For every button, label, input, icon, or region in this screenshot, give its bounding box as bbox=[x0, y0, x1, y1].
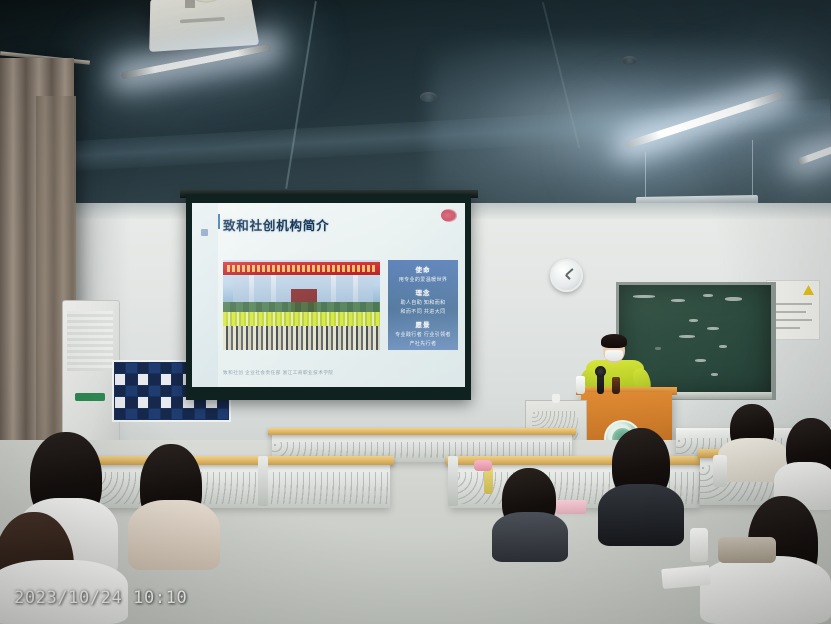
photo-crowd-front bbox=[223, 326, 380, 350]
projector-mount bbox=[185, 0, 195, 8]
wall-clock bbox=[550, 259, 583, 292]
projector-lens bbox=[194, 0, 220, 3]
speaker-face-mask bbox=[605, 350, 623, 361]
speaker-hair bbox=[601, 334, 627, 348]
air-conditioner-badge bbox=[75, 393, 105, 401]
papers bbox=[661, 565, 711, 589]
air-conditioner-grill bbox=[67, 311, 113, 371]
slide-sidebar bbox=[192, 203, 218, 387]
slide-logo-icon bbox=[441, 209, 457, 222]
desk-row-middle bbox=[90, 462, 390, 508]
panel-heading-philosophy: 理念 bbox=[388, 287, 458, 297]
notebook bbox=[556, 500, 586, 514]
panel-line-vision-2: 产社先行者 bbox=[388, 340, 458, 347]
panel-line-philosophy-1: 助人自助 知和而和 bbox=[388, 299, 458, 306]
photo-red-banner bbox=[223, 262, 380, 275]
pink-item bbox=[474, 460, 492, 471]
light-wire-1 bbox=[645, 152, 646, 198]
slide-footer-caption: 致和社创 企业社会责任部 浙江工商职业技术学院 bbox=[223, 370, 334, 376]
sanitizer-bottle bbox=[576, 376, 585, 394]
panel-heading-mission: 使命 bbox=[388, 264, 458, 274]
desk-surface-middle bbox=[86, 456, 394, 465]
projector-brand-label bbox=[180, 17, 225, 23]
panel-line-philosophy-2: 和而不同 共进大同 bbox=[388, 308, 458, 315]
photo-timestamp: 2023/10/24 10:10 bbox=[14, 588, 187, 608]
slide-title-accent bbox=[218, 214, 220, 229]
ceiling-seam-1 bbox=[285, 1, 317, 189]
slide-title: 致和社创机构简介 bbox=[223, 215, 329, 234]
projector bbox=[149, 0, 259, 52]
desk-divider-2 bbox=[448, 456, 458, 506]
water-bottle-1 bbox=[690, 528, 708, 562]
warning-triangle-icon bbox=[803, 285, 814, 295]
ceiling-speaker-1 bbox=[420, 92, 437, 102]
handbag bbox=[718, 537, 776, 563]
microphone-head bbox=[595, 366, 606, 377]
panel-heading-vision: 愿景 bbox=[388, 319, 458, 329]
presentation-slide: 致和社创机构简介 使命 bbox=[192, 203, 465, 387]
ceiling bbox=[0, 0, 831, 215]
projection-screen: 致和社创机构简介 使命 bbox=[186, 194, 471, 400]
desk-divider-1 bbox=[258, 456, 268, 506]
slide-values-panel: 使命 用专业的爱温暖世界 理念 助人自助 知和而和 和而不同 共进大同 愿景 专… bbox=[388, 260, 458, 350]
panel-line-vision-1: 专业践行者 行业引领者 bbox=[388, 331, 458, 338]
slide-bullet-icon bbox=[201, 229, 208, 236]
panel-line-mission-1: 用专业的爱温暖世界 bbox=[388, 276, 458, 283]
dark-bottle bbox=[612, 377, 620, 394]
desk-cup bbox=[552, 394, 560, 403]
light-wire-2 bbox=[752, 140, 753, 198]
slide-group-photo bbox=[223, 260, 380, 350]
ceiling-speaker-2 bbox=[622, 56, 637, 65]
classroom-photo: 致和社创机构简介 使命 bbox=[0, 0, 831, 624]
photo-banner-text bbox=[227, 265, 376, 272]
thermos bbox=[713, 455, 727, 487]
desk-surface-back bbox=[268, 428, 576, 435]
